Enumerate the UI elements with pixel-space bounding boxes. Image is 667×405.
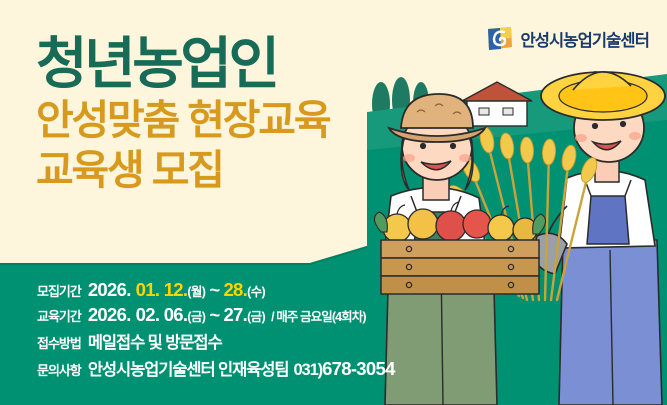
headline-line-1: 청년농업인 [36, 36, 329, 91]
education-period-row: 교육기간 2026. 02. 06. (금) ~ 27. (금) / 매주 금요… [37, 304, 395, 326]
application-method-label: 접수방법 [37, 333, 81, 352]
headline-line-2: 안성맞춤 현장교육 [36, 95, 329, 145]
contact-organization: 안성시농업기술센터 인재육성팀 [88, 356, 289, 380]
farmers-illustration [367, 0, 667, 405]
recruitment-end-date: 28. [223, 279, 247, 301]
recruitment-start-day: (월) [187, 281, 205, 300]
anseong-emblem-icon [487, 26, 513, 51]
recruitment-year: 2026. [88, 279, 131, 301]
headline-block: 청년농업인 안성맞춤 현장교육 교육생 모집 [36, 36, 329, 195]
education-period-label: 교육기간 [37, 306, 81, 325]
contact-phone-prefix: 031) [293, 361, 322, 380]
promotional-banner: 안성시농업기술센터 청년농업인 안성맞춤 현장교육 교육생 모집 모집기간 20… [0, 0, 667, 405]
info-block: 모집기간 2026. 01. 12. (월) ~ 28. (수) 교육기간 20… [37, 279, 395, 383]
education-schedule-note: / 매주 금요일(4회차) [271, 306, 366, 325]
recruitment-start-date: 01. 12. [136, 279, 188, 301]
education-date-separator: ~ [209, 304, 219, 326]
education-start-day: (금) [187, 306, 205, 325]
contact-label: 문의사항 [37, 360, 81, 379]
education-year: 2026. [88, 304, 131, 326]
recruitment-period-row: 모집기간 2026. 01. 12. (월) ~ 28. (수) [37, 279, 395, 301]
contact-phone-number: 678-3054 [322, 358, 395, 380]
headline-line-3: 교육생 모집 [36, 145, 329, 195]
application-method-row: 접수방법 메일접수 및 방문접수 [37, 329, 395, 353]
education-end-date: 27. [223, 304, 247, 326]
contact-row: 문의사항 안성시농업기술센터 인재육성팀 031) 678-3054 [37, 356, 395, 380]
education-start-date: 02. 06. [136, 304, 188, 326]
recruitment-period-label: 모집기간 [37, 281, 81, 300]
recruitment-date-separator: ~ [209, 279, 219, 301]
application-method-value: 메일접수 및 방문접수 [88, 329, 222, 353]
education-end-day: (금) [247, 306, 265, 325]
recruitment-end-day: (수) [247, 281, 265, 300]
organization-logo: 안성시농업기술센터 [487, 26, 649, 51]
organization-name: 안성시농업기술센터 [520, 27, 649, 51]
